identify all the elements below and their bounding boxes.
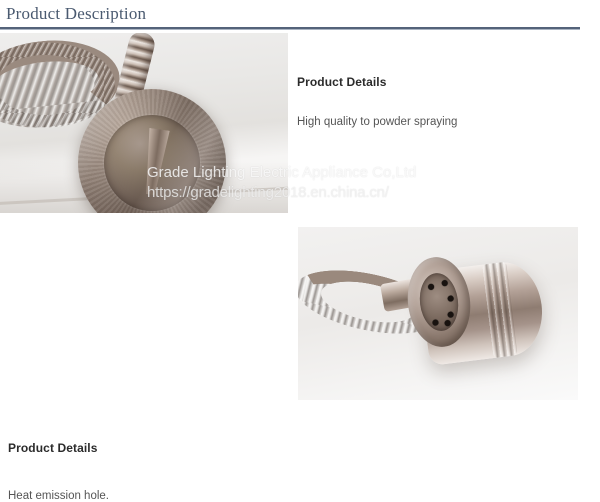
heat-emission-hole — [432, 319, 439, 326]
lamp-head-grooves — [482, 262, 517, 358]
page-title: Product Description — [6, 3, 146, 25]
product-details-body-bottom: Heat emission hole. — [8, 490, 109, 502]
heat-emission-hole — [441, 280, 448, 287]
title-divider — [0, 27, 580, 30]
page-header: Product Description — [0, 0, 600, 33]
product-detail-section-bottom: Product Details Heat emission hole. — [0, 214, 600, 400]
heat-emission-hole — [447, 295, 454, 302]
lamp-head-heat-holes-photo — [298, 227, 578, 400]
product-details-heading-top: Product Details — [297, 75, 387, 89]
product-details-heading-bottom: Product Details — [8, 441, 98, 455]
gooseneck-lamp-wall-mount-photo — [0, 33, 288, 213]
product-details-body-top: High quality to powder spraying — [297, 116, 457, 128]
lamp-head-recess — [417, 271, 462, 333]
heat-emission-hole — [428, 284, 435, 291]
heat-emission-hole — [447, 311, 454, 318]
heat-emission-hole — [444, 320, 451, 327]
product-detail-section-top: Product Details High quality to powder s… — [0, 33, 600, 214]
